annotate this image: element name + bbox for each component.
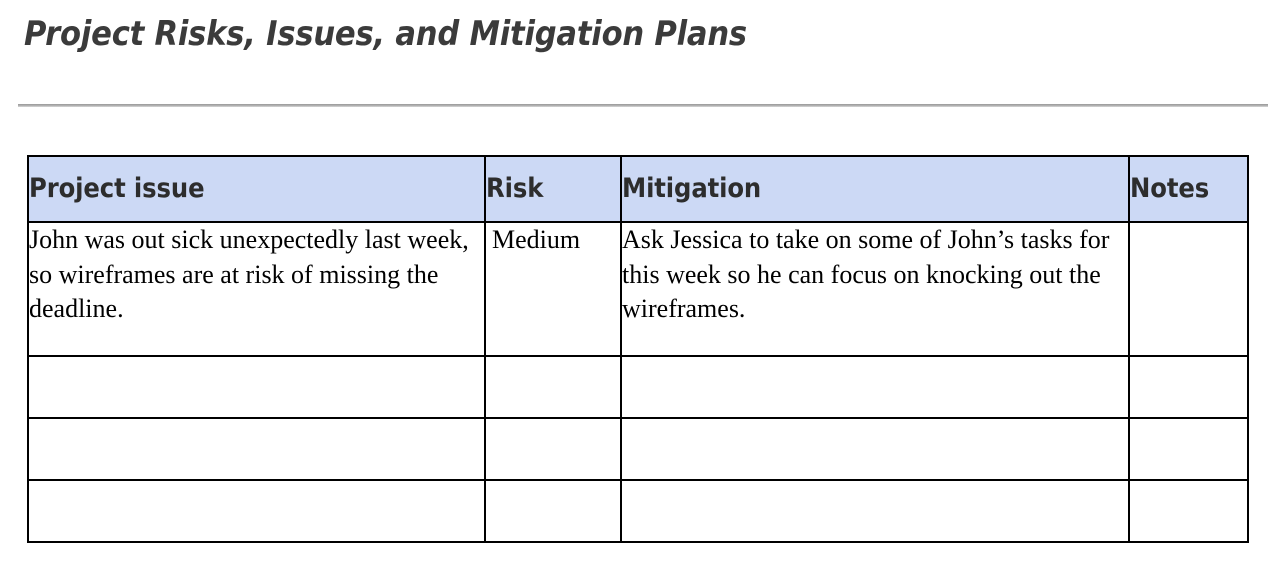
- cell-risk[interactable]: [485, 356, 621, 418]
- table-row: [28, 418, 1248, 480]
- table-row: [28, 356, 1248, 418]
- cell-text: [492, 481, 616, 482]
- table-header: Project issue Risk Mitigation Notes: [28, 156, 1248, 222]
- risk-table-container: Project issue Risk Mitigation Notes John…: [27, 155, 1247, 543]
- cell-text: Medium: [492, 223, 616, 258]
- page-title: Project Risks, Issues, and Mitigation Pl…: [24, 16, 747, 53]
- cell-text: [1130, 419, 1247, 420]
- cell-text: [1130, 481, 1247, 482]
- cell-notes[interactable]: [1129, 222, 1248, 356]
- cell-notes[interactable]: [1129, 480, 1248, 542]
- cell-mitigation[interactable]: [621, 418, 1129, 480]
- cell-project-issue[interactable]: John was out sick unexpectedly last week…: [28, 222, 485, 356]
- column-header-risk[interactable]: Risk: [485, 156, 621, 222]
- cell-mitigation[interactable]: [621, 356, 1129, 418]
- table-row: John was out sick unexpectedly last week…: [28, 222, 1248, 356]
- cell-text: [622, 481, 1128, 482]
- column-header-project-issue[interactable]: Project issue: [28, 156, 485, 222]
- cell-text: John was out sick unexpectedly last week…: [29, 223, 484, 327]
- cell-risk[interactable]: Medium: [485, 222, 621, 356]
- cell-text: [1130, 357, 1247, 358]
- cell-text: [622, 357, 1128, 358]
- cell-text: [492, 419, 616, 420]
- table-header-row: Project issue Risk Mitigation Notes: [28, 156, 1248, 222]
- column-header-mitigation[interactable]: Mitigation: [621, 156, 1129, 222]
- cell-project-issue[interactable]: [28, 418, 485, 480]
- document-page: Project Risks, Issues, and Mitigation Pl…: [0, 0, 1268, 586]
- cell-text: [29, 419, 484, 420]
- title-divider: [18, 104, 1268, 107]
- cell-mitigation[interactable]: [621, 480, 1129, 542]
- cell-risk[interactable]: [485, 480, 621, 542]
- cell-notes[interactable]: [1129, 356, 1248, 418]
- column-header-notes[interactable]: Notes: [1129, 156, 1248, 222]
- cell-text: Ask Jessica to take on some of John’s ta…: [622, 223, 1128, 327]
- table-row: [28, 480, 1248, 542]
- cell-text: [29, 481, 484, 482]
- cell-text: [492, 357, 616, 358]
- cell-project-issue[interactable]: [28, 356, 485, 418]
- cell-notes[interactable]: [1129, 418, 1248, 480]
- project-risks-table: Project issue Risk Mitigation Notes John…: [27, 155, 1249, 543]
- cell-mitigation[interactable]: Ask Jessica to take on some of John’s ta…: [621, 222, 1129, 356]
- cell-text: [622, 419, 1128, 420]
- cell-text: [29, 357, 484, 358]
- cell-text: [1130, 223, 1247, 224]
- cell-risk[interactable]: [485, 418, 621, 480]
- table-body: John was out sick unexpectedly last week…: [28, 222, 1248, 542]
- cell-project-issue[interactable]: [28, 480, 485, 542]
